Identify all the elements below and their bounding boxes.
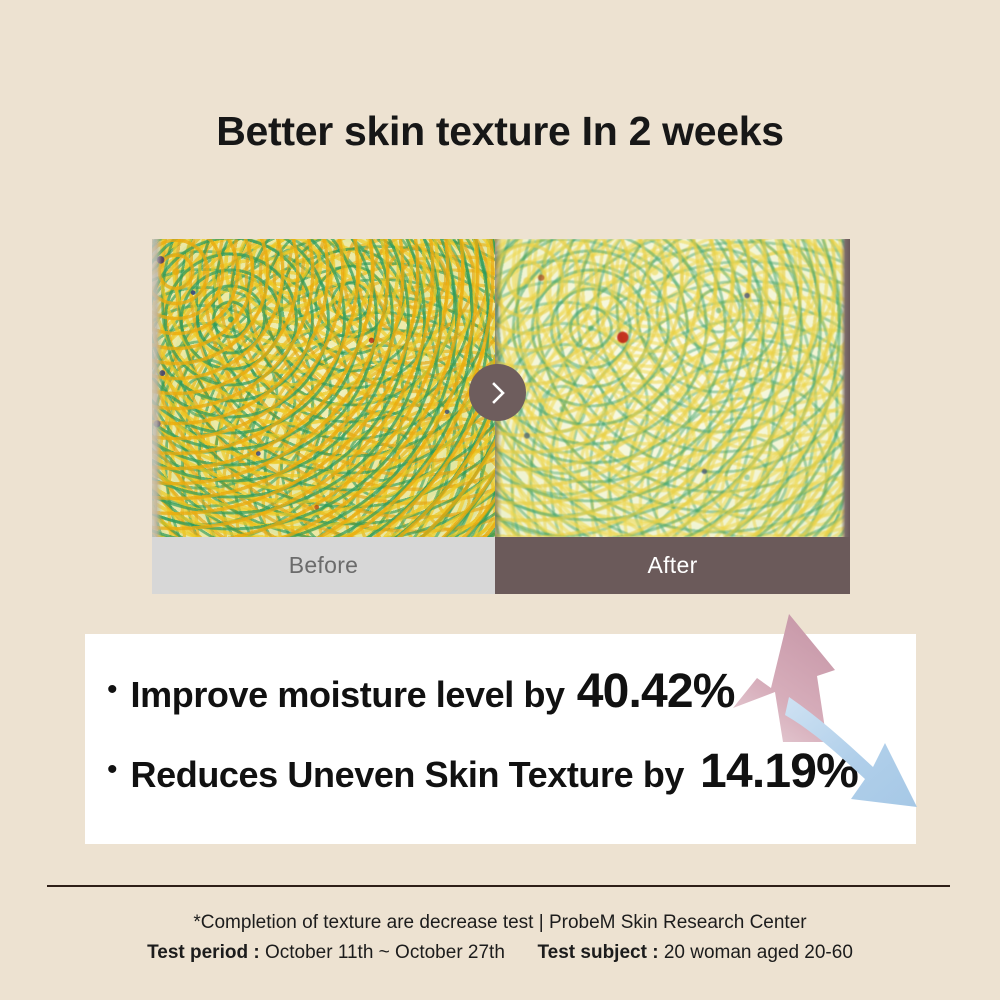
page-title: Better skin texture In 2 weeks [0,108,1000,155]
bullet-icon: • [107,755,118,785]
stat-item-texture: • Reduces Uneven Skin Texture by 14.19% [107,744,858,799]
before-image-edge [152,239,162,537]
stat-label: Reduces Uneven Skin Texture by [131,754,685,796]
stat-label: Improve moisture level by [131,674,565,716]
before-image [152,239,495,537]
test-period-value: October 11th ~ October 27th [265,942,505,963]
test-subject-value: 20 woman aged 20-60 [664,942,853,963]
comparison-labels: Before After [152,537,850,594]
stat-value: 14.19% [700,744,858,799]
stats-card: • Improve moisture level by 40.42% • Red… [85,634,916,844]
footer-divider [47,885,950,887]
stat-value: 40.42% [577,664,735,719]
after-label: After [495,537,850,594]
chevron-right-icon [485,380,511,406]
comparison-next-button[interactable] [469,364,526,421]
stat-item-moisture: • Improve moisture level by 40.42% [107,664,735,719]
stats-list: • Improve moisture level by 40.42% • Red… [85,634,916,844]
test-subject-label: Test subject : [537,942,658,963]
footer-note: *Completion of texture are decrease test… [0,908,1000,937]
footer-details: Test period : October 11th ~ October 27t… [0,938,1000,967]
bullet-icon: • [107,675,118,705]
after-skin-texture [495,239,850,537]
after-image-edge [841,239,850,537]
before-label: Before [152,537,495,594]
test-period-label: Test period : [147,942,260,963]
after-image [495,239,850,537]
before-skin-texture [152,239,495,537]
